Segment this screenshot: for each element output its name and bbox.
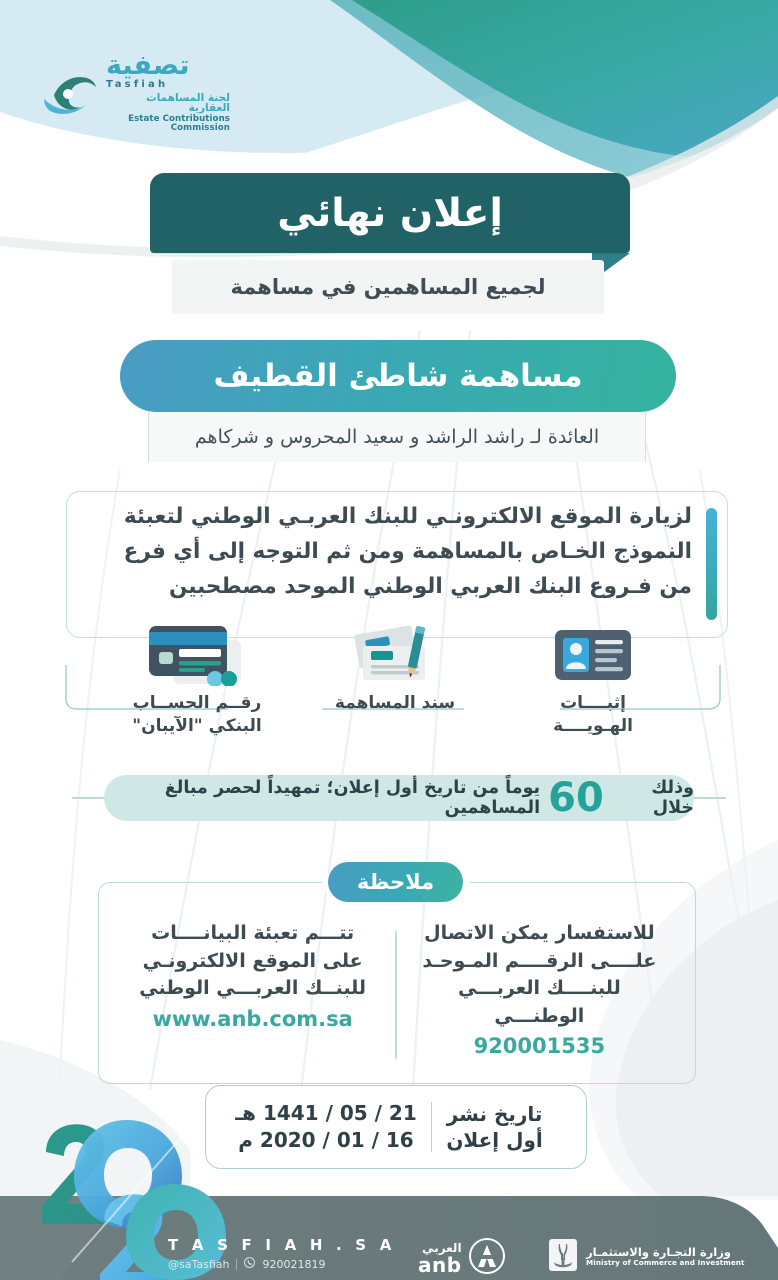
note-pill-label: ملاحظة xyxy=(357,870,434,894)
requirement-identity-proof: إثبــــاتالهـويــــة xyxy=(498,624,688,738)
requirement-contribution-deed: سند المساهمة xyxy=(300,624,490,715)
project-name: مساهمة شاطئ القطيف xyxy=(213,358,582,394)
body-paragraph: لزيارة الموقع الالكترونـي للبنك العربـي … xyxy=(87,500,692,604)
note-contact-text: للاستفسار يمكن الاتصالعلــــى الرقــــم … xyxy=(413,920,666,1030)
note-website-column: تتـــم تعبئة البيانــــاتعلى الموقع الال… xyxy=(110,920,395,1070)
requirement-label: سند المساهمة xyxy=(300,692,490,715)
anb-partner-logo: العربي anb xyxy=(418,1238,505,1278)
footer-divider xyxy=(236,1259,237,1270)
saudi-emblem-icon xyxy=(548,1238,578,1276)
requirement-bank-account: رقــم الحســابالبنكي "الآيبان" xyxy=(102,624,292,738)
note-website-text: تتـــم تعبئة البيانــــاتعلى الموقع الال… xyxy=(126,920,379,1003)
moci-name-en: Ministry of Commerce and Investment xyxy=(586,1259,745,1267)
footer-handle[interactable]: @saTasfiah xyxy=(168,1258,229,1271)
bank-card-icon xyxy=(102,624,292,686)
publish-date-divider xyxy=(431,1102,433,1152)
poster-canvas: تصفية Tasfiah لجنة المساهمات العقارية Es… xyxy=(0,0,778,1280)
note-website-url[interactable]: www.anb.com.sa xyxy=(126,1007,379,1031)
tasfiah-logo: تصفية Tasfiah لجنة المساهمات العقارية Es… xyxy=(40,48,230,136)
note-contact-phone[interactable]: 920001535 xyxy=(413,1034,666,1058)
publish-date-box: تاريخ نشرأول إعلان 21 / 05 / 1441 هـ 16 … xyxy=(205,1085,587,1169)
moci-partner-logo: وزارة التجـارة والاستثمـار Ministry of C… xyxy=(548,1238,745,1276)
publish-date-hijri: 21 / 05 / 1441 هـ xyxy=(235,1100,417,1127)
logo-subtitle-ar: لجنة المساهمات العقارية xyxy=(106,93,230,114)
id-card-icon xyxy=(498,624,688,686)
footer-phone[interactable]: 920021819 xyxy=(262,1258,325,1271)
publish-date-gregorian: 16 / 01 / 2020 م xyxy=(235,1127,417,1154)
project-owner: العائدة لـ راشد الراشد و سعيد المحروس و … xyxy=(148,412,646,462)
anb-name-ar: العربي xyxy=(422,1242,462,1254)
publish-date-label: تاريخ نشرأول إعلان xyxy=(446,1101,556,1153)
requirement-label: رقــم الحســابالبنكي "الآيبان" xyxy=(102,692,292,738)
note-contact-column: للاستفسار يمكن الاتصالعلــــى الرقــــم … xyxy=(397,920,682,1070)
footer-social-line: @saTasfiah 920021819 xyxy=(168,1257,396,1271)
note-columns: للاستفسار يمكن الاتصالعلــــى الرقــــم … xyxy=(110,920,682,1070)
note-column-divider xyxy=(395,931,396,1059)
deadline-line-right xyxy=(692,797,726,799)
footer-website[interactable]: T A S F I A H . S A xyxy=(168,1236,396,1254)
page-title: إعلان نهائي xyxy=(277,191,503,236)
requirement-label: إثبــــاتالهـويــــة xyxy=(498,692,688,738)
deadline-bar: وذلك خلال 60 يوماً من تاريخ أول إعلان؛ ت… xyxy=(104,775,694,821)
anb-name-en: anb xyxy=(418,1255,462,1275)
footer-contact-block: T A S F I A H . S A @saTasfiah 920021819 xyxy=(168,1236,396,1271)
logo-subtitle-en: Estate Contributions Commission xyxy=(106,115,230,132)
body-accent-bar xyxy=(706,508,717,620)
headline-banner: إعلان نهائي xyxy=(150,173,630,253)
logo-name-ar: تصفية xyxy=(106,52,190,79)
deadline-days-count: 60 xyxy=(546,778,606,818)
deadline-suffix: يوماً من تاريخ أول إعلان؛ تمهيداً لحصر م… xyxy=(104,778,540,818)
note-pill: ملاحظة xyxy=(328,862,463,902)
document-pen-icon xyxy=(300,624,490,686)
deadline-prefix: وذلك خلال xyxy=(612,778,694,818)
headline-subtitle: لجميع المساهمين في مساهمة xyxy=(172,260,604,314)
anb-logo-icon xyxy=(469,1238,505,1278)
tasfiah-swirl-logo-icon xyxy=(40,61,102,123)
deadline-line-left xyxy=(72,797,106,799)
project-name-pill: مساهمة شاطئ القطيف xyxy=(120,340,676,412)
publish-date-values: 21 / 05 / 1441 هـ 16 / 01 / 2020 م xyxy=(235,1100,417,1154)
requirements-row: رقــم الحســابالبنكي "الآيبان" xyxy=(60,624,725,749)
phone-icon xyxy=(244,1257,255,1271)
logo-name-en: Tasfiah xyxy=(106,80,168,90)
